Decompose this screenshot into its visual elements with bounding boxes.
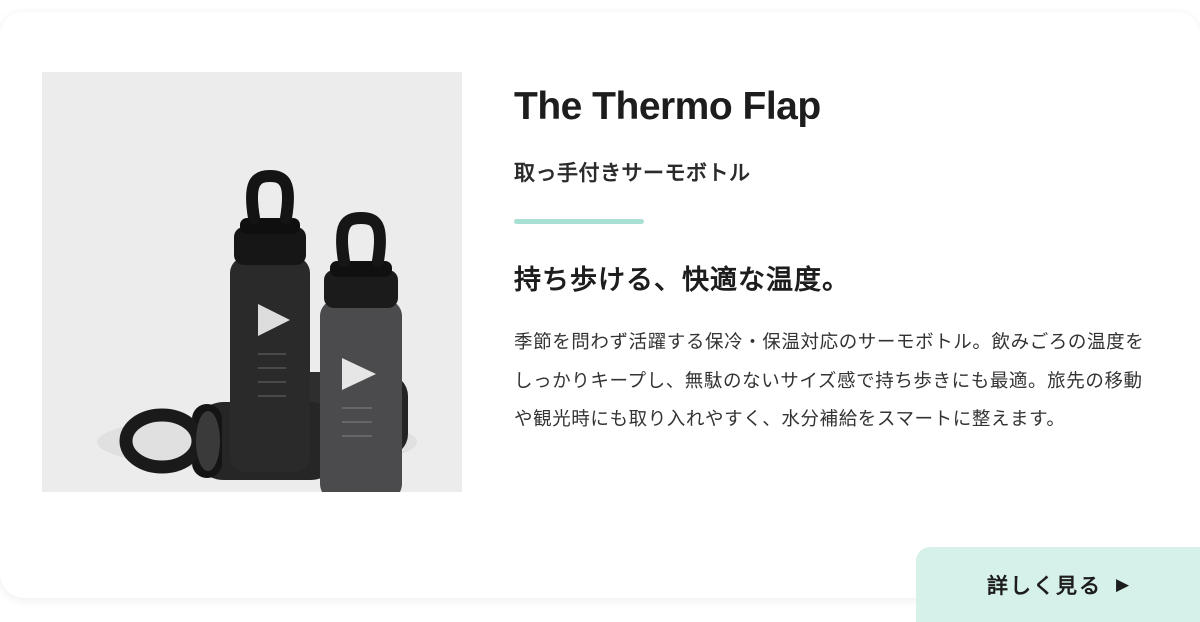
product-headline: 持ち歩ける、快適な温度。 <box>514 224 1164 297</box>
product-subtitle: 取っ手付きサーモボトル <box>514 131 1164 187</box>
product-image <box>42 72 462 492</box>
details-button-label: 詳しく見る <box>987 570 1102 600</box>
product-description: 季節を問わず活躍する保冷・保温対応のサーモボトル。飲みごろの温度をしっかりキープ… <box>514 297 1160 440</box>
details-button[interactable]: 詳しく見る ▶ <box>916 547 1200 622</box>
product-card: The Thermo Flap 取っ手付きサーモボトル 持ち歩ける、快適な温度。… <box>0 12 1200 598</box>
page-title: The Thermo Flap <box>514 72 1164 131</box>
arrow-right-icon: ▶ <box>1116 576 1129 593</box>
product-content: The Thermo Flap 取っ手付きサーモボトル 持ち歩ける、快適な温度。… <box>514 72 1164 439</box>
thermo-bottle-illustration <box>42 72 462 492</box>
